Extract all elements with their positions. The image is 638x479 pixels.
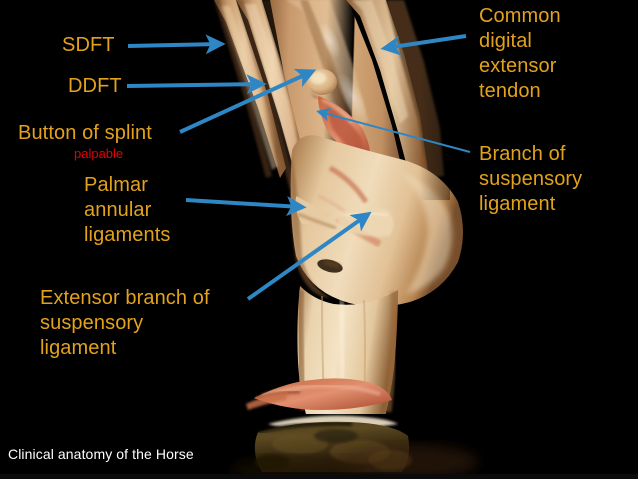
anatomy-slide: SDFT DDFT Button of splint palpable Palm… bbox=[0, 0, 638, 479]
label-palmar-annular-ligaments: Palmar annular ligaments bbox=[84, 173, 171, 248]
label-button-of-splint: Button of splint bbox=[18, 121, 152, 146]
label-ddft: DDFT bbox=[68, 74, 122, 99]
label-extensor-branch-of-suspensory-ligament: Extensor branch of suspensory ligament bbox=[40, 286, 210, 361]
bottom-band bbox=[0, 474, 638, 479]
label-palpable: palpable bbox=[74, 146, 123, 161]
label-common-digital-extensor-tendon: Common digital extensor tendon bbox=[479, 4, 561, 104]
label-sdft: SDFT bbox=[62, 33, 115, 58]
label-branch-of-suspensory-ligament: Branch of suspensory ligament bbox=[479, 142, 582, 217]
slide-caption: Clinical anatomy of the Horse bbox=[8, 446, 194, 463]
